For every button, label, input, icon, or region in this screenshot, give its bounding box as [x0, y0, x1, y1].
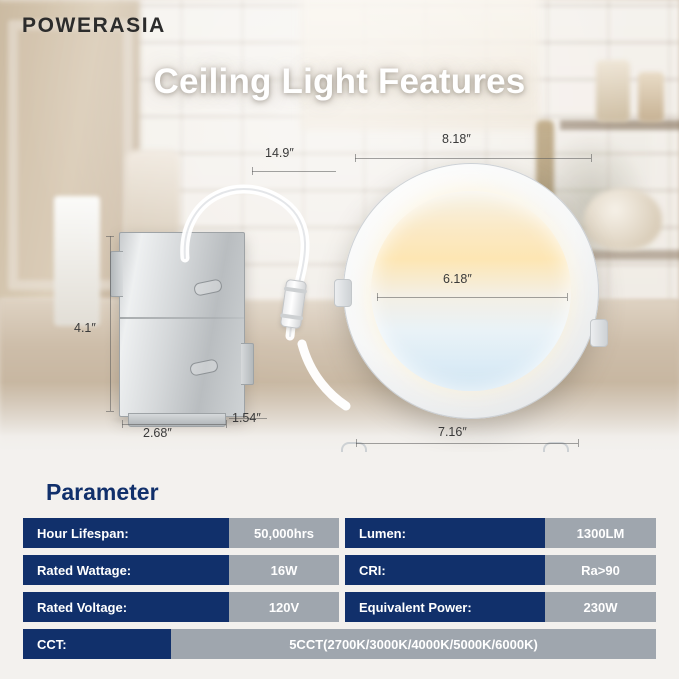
dim-line-cutout — [356, 443, 578, 444]
dim-tick-trim-right — [591, 154, 592, 162]
spec-key-rated-voltage: Rated Voltage: — [23, 592, 229, 622]
dim-tick-cutout-right — [578, 439, 579, 447]
table-row: Rated Voltage: 120V Equivalent Power: 23… — [23, 592, 656, 622]
spec-table: Hour Lifespan: 50,000hrs Lumen: 1300LM R… — [23, 518, 656, 666]
table-row: Rated Wattage: 16W CRI: Ra>90 — [23, 555, 656, 585]
dim-label-box-depth: 1.54″ — [232, 411, 261, 425]
dim-tick-cable-left — [252, 167, 253, 175]
dim-tick-box-width-right — [226, 420, 227, 428]
dim-tick-box-top — [106, 236, 114, 237]
connector-ring-bottom — [280, 313, 303, 320]
brand-logo: POWERASIA — [22, 14, 166, 38]
spec-value-lumen: 1300LM — [545, 518, 656, 548]
spec-value-hour-lifespan: 50,000hrs — [229, 518, 339, 548]
spec-key-cri: CRI: — [345, 555, 545, 585]
table-row: Hour Lifespan: 50,000hrs Lumen: 1300LM — [23, 518, 656, 548]
dim-line-cable — [252, 171, 336, 172]
spec-value-cct: 5CCT(2700K/3000K/4000K/5000K/6000K) — [171, 629, 656, 659]
dim-tick-lens-left — [377, 293, 378, 301]
spec-value-rated-voltage: 120V — [229, 592, 339, 622]
product-infographic: POWERASIA Ceiling Light Features 14 — [0, 0, 679, 679]
dim-label-cutout-width: 7.16″ — [438, 425, 467, 439]
dim-label-box-height: 4.1″ — [74, 321, 96, 335]
mounting-clip-right — [590, 319, 608, 347]
dim-line-trim — [355, 158, 591, 159]
dim-line-lens — [377, 297, 567, 298]
spec-value-rated-wattage: 16W — [229, 555, 339, 585]
dim-tick-trim-left — [355, 154, 356, 162]
downlight-fixture — [343, 163, 599, 419]
dim-tick-box-width-left — [122, 420, 123, 428]
spec-key-equivalent-power: Equivalent Power: — [345, 592, 545, 622]
spec-key-cct: CCT: — [23, 629, 171, 659]
dim-line-box-width — [122, 424, 226, 425]
mounting-clip-left — [334, 279, 352, 307]
spec-value-cri: Ra>90 — [545, 555, 656, 585]
dim-tick-box-bottom — [106, 411, 114, 412]
downlight-lens — [371, 191, 571, 391]
spec-key-rated-wattage: Rated Wattage: — [23, 555, 229, 585]
dim-tick-lens-right — [567, 293, 568, 301]
parameter-section: Parameter Hour Lifespan: 50,000hrs Lumen… — [0, 452, 679, 679]
page-title: Ceiling Light Features — [0, 62, 679, 102]
spec-key-lumen: Lumen: — [345, 518, 545, 548]
connector-ring-top — [284, 287, 307, 294]
dim-line-box-height — [110, 236, 111, 411]
dim-label-box-width: 2.68″ — [143, 426, 172, 440]
dim-label-trim-diameter: 8.18″ — [442, 132, 471, 146]
spec-key-hour-lifespan: Hour Lifespan: — [23, 518, 229, 548]
table-row: CCT: 5CCT(2700K/3000K/4000K/5000K/6000K) — [23, 629, 656, 659]
spec-value-equivalent-power: 230W — [545, 592, 656, 622]
dim-label-lens-diameter: 6.18″ — [443, 272, 472, 286]
junction-box-tab-left — [110, 251, 123, 297]
dim-tick-cutout-left — [356, 439, 357, 447]
dim-label-cable-length: 14.9″ — [265, 146, 294, 160]
parameter-title: Parameter — [46, 479, 159, 506]
